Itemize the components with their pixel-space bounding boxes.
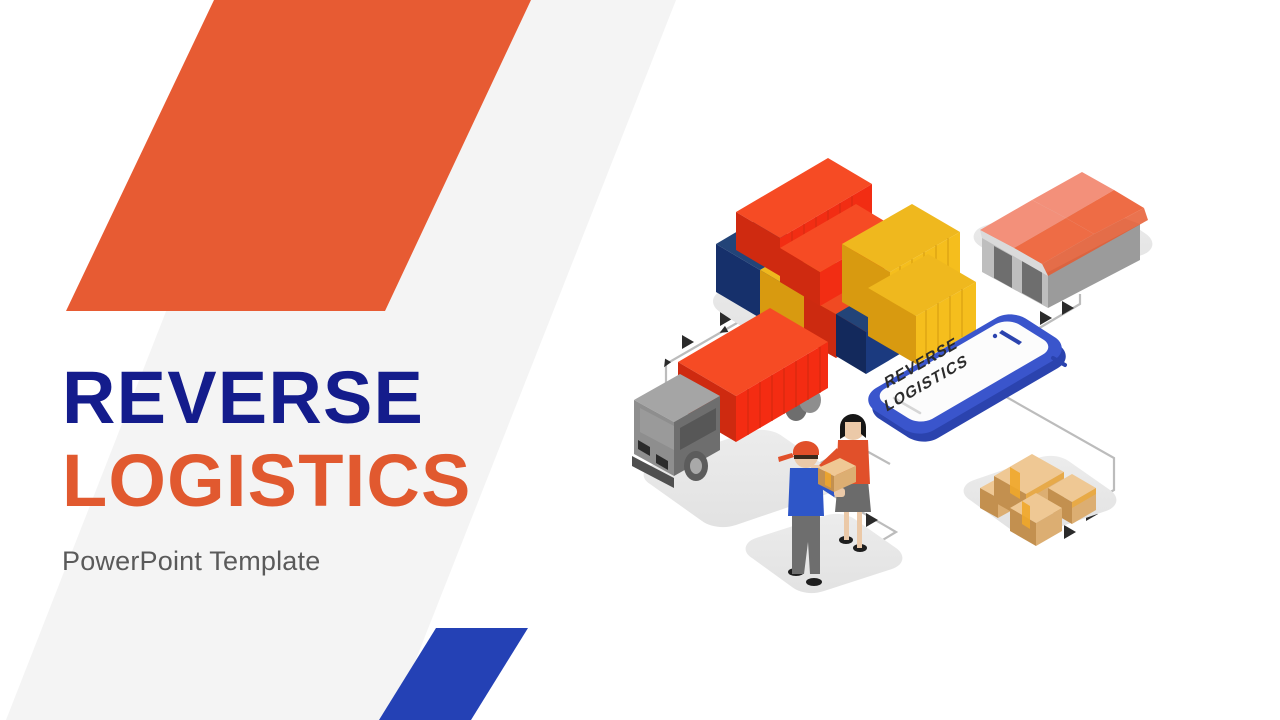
reverse-logistics-illustration: REVERSE LOGISTICS <box>628 96 1228 616</box>
arrowhead-c1 <box>1062 301 1074 315</box>
courier-cap <box>793 441 819 455</box>
node-warehouse <box>974 172 1153 308</box>
title-block: REVERSE LOGISTICS PowerPoint Template <box>62 360 662 577</box>
page-title-line-2: LOGISTICS <box>62 443 662 520</box>
arrowhead-f2 <box>1064 525 1076 539</box>
page-subtitle: PowerPoint Template <box>62 546 662 577</box>
blue-parallelogram <box>379 628 528 720</box>
people-platform <box>746 514 903 593</box>
phone-camera-dot <box>993 334 997 338</box>
truck-wheel-front-hub <box>690 458 702 474</box>
page-title-line-1: REVERSE <box>62 360 662 437</box>
orange-parallelogram <box>66 0 531 311</box>
customer-leg-right <box>857 510 862 548</box>
arrowhead-a2 <box>682 335 694 349</box>
arrowhead-e1 <box>866 513 878 527</box>
node-cardboard-boxes <box>964 454 1117 546</box>
slide-canvas: REVERSE LOGISTICS PowerPoint Template <box>0 0 1280 720</box>
courier-shoe-right <box>806 578 822 586</box>
